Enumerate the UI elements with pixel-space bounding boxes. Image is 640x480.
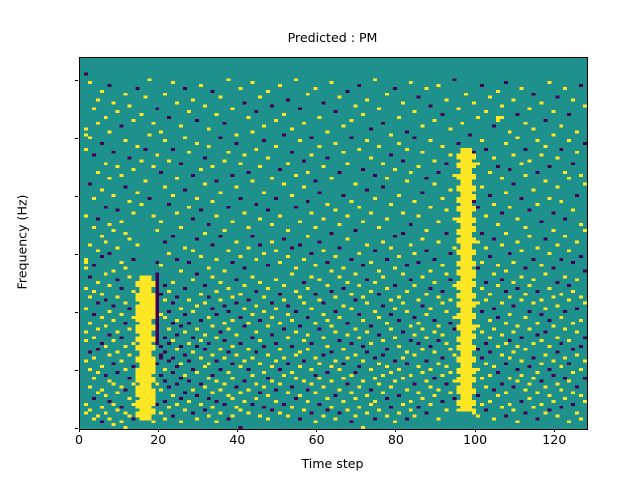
x-tick-label: 40 [229, 432, 245, 447]
y-tick-mark [75, 138, 79, 139]
heatmap-image [80, 58, 587, 429]
x-tick-label: 80 [388, 432, 404, 447]
figure-canvas: Predicted : PM Frequency (Hz) 0200004000… [0, 0, 640, 480]
x-tick-label: 120 [542, 432, 566, 447]
x-tick-mark [237, 429, 238, 433]
y-tick-mark [75, 428, 79, 429]
page-title: Predicted : PM [79, 30, 586, 46]
heatmap-plot-area [79, 57, 588, 430]
y-axis-label: Frequency (Hz) [15, 57, 29, 428]
x-tick-mark [316, 429, 317, 433]
x-tick-mark [395, 429, 396, 433]
x-tick-mark [158, 429, 159, 433]
y-tick-mark [75, 80, 79, 81]
x-tick-label: 60 [309, 432, 325, 447]
y-tick-mark [75, 254, 79, 255]
x-tick-mark [554, 429, 555, 433]
x-tick-mark [475, 429, 476, 433]
y-tick-mark [75, 312, 79, 313]
x-axis-label: Time step [79, 456, 586, 471]
y-tick-mark [75, 370, 79, 371]
x-tick-label: 100 [463, 432, 487, 447]
x-tick-mark [79, 429, 80, 433]
y-tick-mark [75, 196, 79, 197]
x-tick-label: 0 [75, 432, 83, 447]
x-tick-label: 20 [150, 432, 166, 447]
